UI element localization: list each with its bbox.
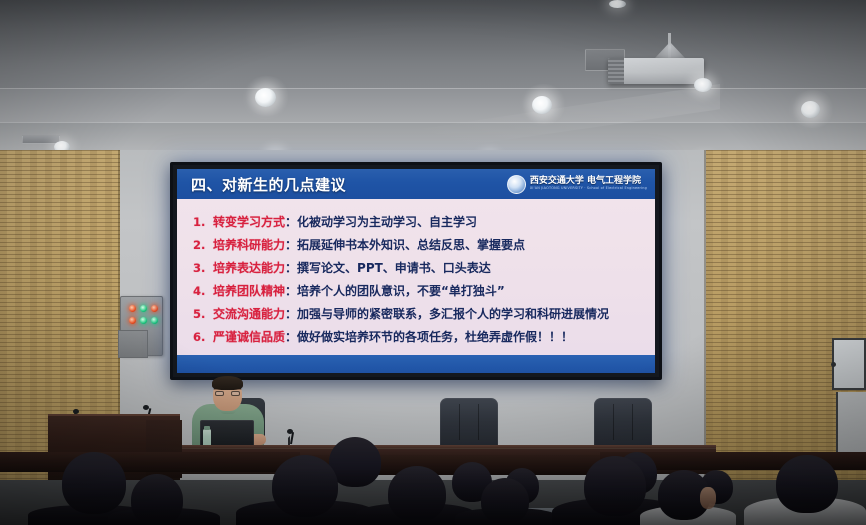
bullet-number: 2. (193, 238, 213, 252)
whiteboard-knob (831, 362, 836, 367)
glasses-icon (215, 391, 240, 396)
bullet-number: 5. (193, 307, 213, 321)
wall-seam (704, 150, 706, 480)
soffit-edge-lower (0, 122, 866, 123)
control-led-red (151, 305, 158, 312)
presenter-hair (212, 376, 243, 390)
list-item: 6. 严谨诚信品质 ： 做好做实培养环节的各项任务，杜绝弄虚作假！！！ (193, 328, 643, 351)
bullet-text: 撰写论文、PPT、申请书、口头表达 (297, 259, 491, 276)
university-seal-icon (507, 175, 526, 194)
ceiling-downlight (255, 88, 276, 107)
slide: 四、对新生的几点建议 西安交通大学 电气工程学院 XI'AN JIAOTONG … (177, 169, 655, 373)
slide-footer (177, 355, 655, 373)
microphone-head (143, 405, 149, 410)
bullet-text: 做好做实培养环节的各项任务，杜绝弄虚作假！！！ (297, 328, 573, 345)
bullet-number: 6. (193, 330, 213, 344)
bullet-key: 培养表达能力 (213, 259, 285, 276)
bullet-separator: ： (285, 213, 297, 230)
bullet-text: 培养个人的团队意识，不要“单打独斗” (297, 282, 505, 299)
audience-head (388, 466, 446, 522)
audience-head (481, 478, 529, 524)
audience-head (62, 452, 126, 514)
projector-lens-icon (694, 78, 712, 92)
bullet-separator: ： (285, 236, 297, 253)
ceiling-vent (22, 135, 60, 144)
chair-center (440, 398, 498, 448)
ceiling-downlight (532, 96, 552, 114)
control-panel-box (118, 330, 148, 358)
microphone-head (287, 429, 293, 434)
list-item: 1. 转变学习方式 ： 化被动学习为主动学习、自主学习 (193, 213, 643, 236)
ceiling-soffit-lower (0, 122, 866, 152)
audience-face (700, 487, 716, 509)
list-item: 3. 培养表达能力 ： 撰写论文、PPT、申请书、口头表达 (193, 259, 643, 282)
bullet-separator: ： (285, 328, 297, 345)
control-led-red (129, 305, 136, 312)
audience-head (584, 456, 646, 516)
bullet-separator: ： (285, 282, 297, 299)
bullet-separator: ： (285, 305, 297, 322)
ceiling-downlight (801, 101, 820, 118)
slide-title: 四、对新生的几点建议 (191, 174, 346, 195)
wall-whiteboard (832, 338, 866, 390)
bullet-key: 交流沟通能力 (213, 305, 285, 322)
audience-desk (0, 452, 300, 472)
logo-text-cn: 西安交通大学 电气工程学院 (530, 177, 647, 186)
bullet-number: 4. (193, 284, 213, 298)
projector-vent (608, 58, 624, 84)
control-led-green (140, 317, 147, 324)
bullet-text: 加强与导师的紧密联系，多汇报个人的学习和科研进展情况 (297, 305, 609, 322)
ceiling-soffit-upper (0, 88, 866, 122)
soffit-edge-upper (0, 88, 866, 89)
bullet-text: 化被动学习为主动学习、自主学习 (297, 213, 477, 230)
audience-head (131, 474, 183, 525)
bottle-cap (204, 426, 210, 430)
projection-screen: 四、对新生的几点建议 西安交通大学 电气工程学院 XI'AN JIAOTONG … (170, 162, 662, 380)
lecture-hall-scene: 四、对新生的几点建议 西安交通大学 电气工程学院 XI'AN JIAOTONG … (0, 0, 866, 525)
bullet-key: 转变学习方式 (213, 213, 285, 230)
control-led-green (151, 317, 158, 324)
list-item: 5. 交流沟通能力 ： 加强与导师的紧密联系，多汇报个人的学习和科研进展情况 (193, 305, 643, 328)
bullet-key: 培养科研能力 (213, 236, 285, 253)
bullet-number: 1. (193, 215, 213, 229)
bullet-separator: ： (285, 259, 297, 276)
wall-panel-lower (836, 392, 866, 452)
bullet-key: 严谨诚信品质 (213, 328, 285, 345)
control-led-red (129, 317, 136, 324)
university-logo: 西安交通大学 电气工程学院 XI'AN JIAOTONG UNIVERSITY … (507, 175, 647, 194)
slide-body: 1. 转变学习方式 ： 化被动学习为主动学习、自主学习 2. 培养科研能力 ： … (177, 199, 655, 355)
audience-head (272, 455, 338, 517)
list-item: 2. 培养科研能力 ： 拓展延伸书本外知识、总结反思、掌握要点 (193, 236, 643, 259)
audience-head (776, 455, 838, 513)
logo-text-en: XI'AN JIAOTONG UNIVERSITY · School of El… (530, 186, 647, 190)
chair-right (594, 398, 652, 448)
bullet-key: 培养团队精神 (213, 282, 285, 299)
ceiling-downlight (609, 0, 626, 8)
list-item: 4. 培养团队精神 ： 培养个人的团队意识，不要“单打独斗” (193, 282, 643, 305)
control-led-green (140, 305, 147, 312)
bullet-text: 拓展延伸书本外知识、总结反思、掌握要点 (297, 236, 525, 253)
bullet-number: 3. (193, 261, 213, 275)
slide-header: 四、对新生的几点建议 西安交通大学 电气工程学院 XI'AN JIAOTONG … (177, 169, 655, 199)
